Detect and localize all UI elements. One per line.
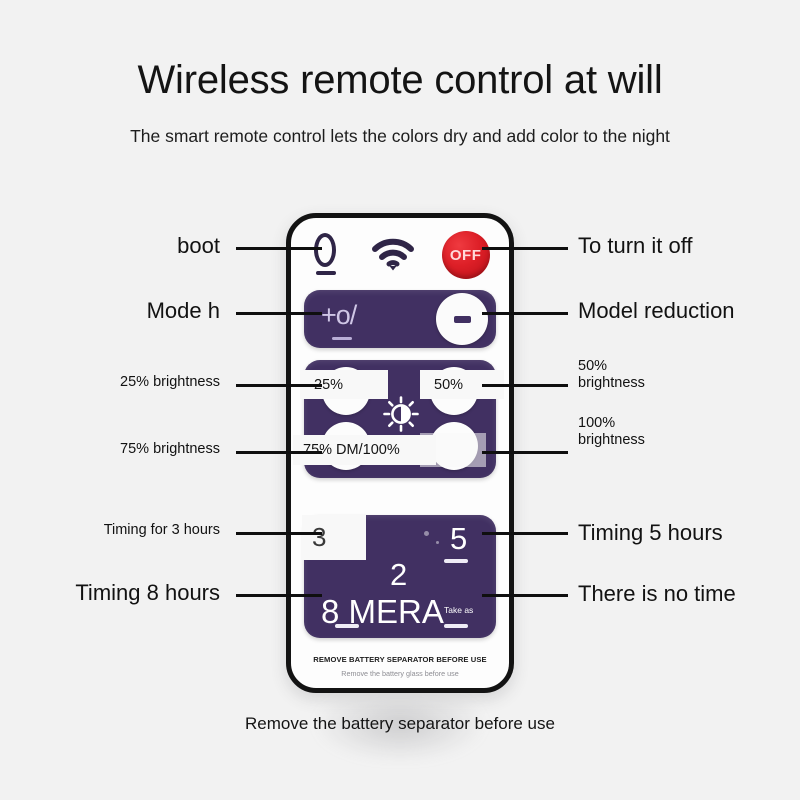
sticker-brightness-75-100-label: 75% DM/100% xyxy=(303,442,400,458)
remote-footer-primary: REMOVE BATTERY SEPARATOR BEFORE USE xyxy=(299,655,501,664)
timer-dash xyxy=(335,624,359,628)
callout-left-timer-3h-label: Timing for 3 hours xyxy=(104,522,220,538)
leader-line-right-model xyxy=(482,312,568,315)
minus-icon xyxy=(454,316,471,323)
remote-footer: REMOVE BATTERY SEPARATOR BEFORE USE Remo… xyxy=(299,655,501,678)
leader-line-right-timer5 xyxy=(482,532,568,535)
callout-right-timer-5h-label: Timing 5 hours xyxy=(578,520,723,545)
leader-line-right-50 xyxy=(482,384,568,387)
leader-line-left-75 xyxy=(236,451,322,454)
mode-increase-label[interactable]: +o/ xyxy=(321,300,356,331)
timer-dash xyxy=(444,559,468,563)
callout-right-turn-off-label: To turn it off xyxy=(578,233,693,258)
off-button[interactable]: OFF xyxy=(442,231,490,279)
callout-right-brightness-50-label: 50% brightness xyxy=(578,358,645,391)
leader-line-right-off xyxy=(482,247,568,250)
power-zero-icon[interactable] xyxy=(310,233,344,277)
callout-right-no-time-label: There is no time xyxy=(578,581,736,606)
remote-footer-secondary: Remove the battery glass before use xyxy=(299,669,501,678)
callout-right-brightness-100: 100% brightness xyxy=(578,415,674,449)
callout-right-brightness-100-label: 100% brightness xyxy=(578,415,645,448)
sticker-brightness-50-label: 50% xyxy=(434,377,463,393)
sticker-brightness-100-blank xyxy=(420,433,486,467)
sticker-timer-3: 3 xyxy=(302,515,366,560)
wifi-signal-icon xyxy=(371,237,415,273)
page-title: Wireless remote control at will xyxy=(0,58,800,103)
callout-left-timer-8h: Timing 8 hours xyxy=(20,580,220,606)
callout-left-mode: Mode h xyxy=(40,298,220,324)
timer-dash xyxy=(444,624,468,628)
remote-top-row: OFF xyxy=(291,222,509,288)
callout-left-mode-label: Mode h xyxy=(147,298,220,323)
callout-left-boot-label: boot xyxy=(177,233,220,258)
callout-left-brightness-25: 25% brightness xyxy=(40,374,220,391)
timer-button-5h[interactable]: 5 xyxy=(450,521,467,557)
leader-line-left-25 xyxy=(236,384,322,387)
off-button-label: OFF xyxy=(450,247,482,264)
callout-left-timer-8h-label: Timing 8 hours xyxy=(75,580,220,605)
callout-left-brightness-75-label: 75% brightness xyxy=(120,441,220,457)
timer-take-as-label: Take as xyxy=(444,605,473,615)
infographic-stage: Wireless remote control at will The smar… xyxy=(0,0,800,800)
timer-sparkle xyxy=(436,541,439,544)
mode-panel: +o/ xyxy=(304,290,496,348)
leader-line-right-100 xyxy=(482,451,568,454)
leader-line-left-timer3 xyxy=(236,532,322,535)
callout-left-timer-3h: Timing for 3 hours xyxy=(30,522,220,539)
mode-minus-button[interactable] xyxy=(436,293,488,345)
leader-line-right-notime xyxy=(482,594,568,597)
callout-right-brightness-50: 50% brightness xyxy=(578,358,674,392)
timer-sparkle xyxy=(424,531,429,536)
leader-line-left-timer8 xyxy=(236,594,322,597)
brightness-sun-icon xyxy=(383,396,419,432)
callout-left-boot: boot xyxy=(40,233,220,259)
sticker-brightness-75-100: 75% DM/100% xyxy=(293,435,436,465)
leader-line-left-mode xyxy=(236,312,322,315)
page-subtitle: The smart remote control lets the colors… xyxy=(0,126,800,147)
callout-right-turn-off: To turn it off xyxy=(578,233,793,259)
leader-line-left-boot xyxy=(236,247,322,250)
bottom-caption: Remove the battery separator before use xyxy=(0,714,800,734)
sticker-timer-3-label: 3 xyxy=(312,522,326,553)
callout-right-timer-5h: Timing 5 hours xyxy=(578,520,793,546)
timer-value-2: 2 xyxy=(390,557,407,593)
callout-left-brightness-25-label: 25% brightness xyxy=(120,374,220,390)
callout-left-brightness-75: 75% brightness xyxy=(40,441,220,458)
callout-right-model-reduction: Model reduction xyxy=(578,298,793,324)
mode-dash xyxy=(332,337,352,340)
callout-right-no-time: There is no time xyxy=(578,581,793,607)
callout-right-model-reduction-label: Model reduction xyxy=(578,298,735,323)
